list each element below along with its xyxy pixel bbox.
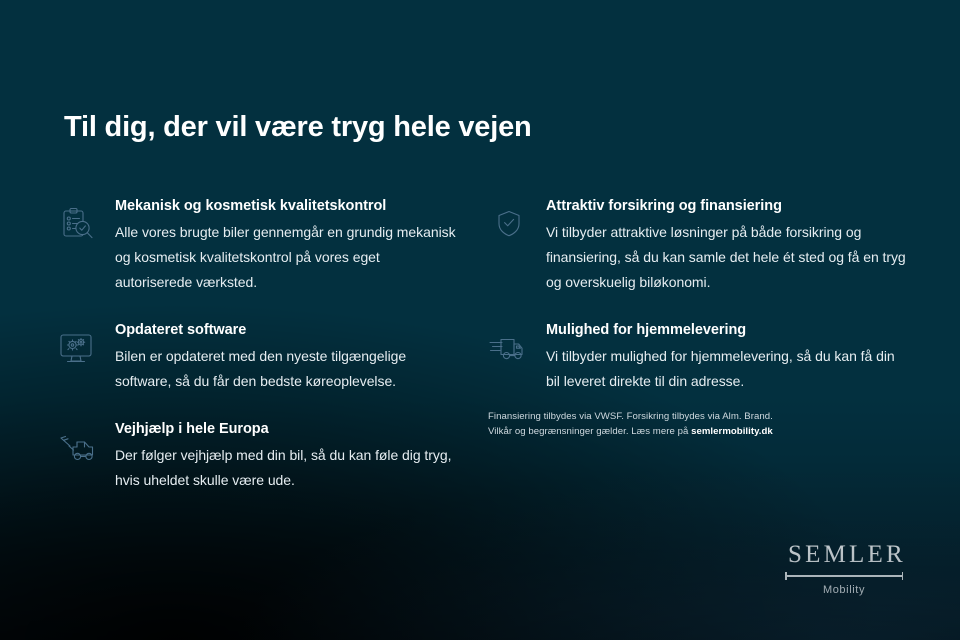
fineprint-line-2: Vilkår og begrænsninger gælder. Læs mere… bbox=[488, 424, 838, 439]
clipboard-magnifier-icon bbox=[57, 206, 99, 244]
fineprint-website-link[interactable]: semlermobility.dk bbox=[691, 426, 773, 437]
shield-check-icon bbox=[488, 206, 530, 244]
feature-text: Bilen er opdateret med den nyeste tilgæn… bbox=[115, 344, 457, 394]
feature-text: Der følger vejhjælp med din bil, så du k… bbox=[115, 443, 457, 493]
monitor-gears-icon bbox=[57, 330, 99, 368]
feature-home-delivery: Mulighed for hjemmelevering Vi tilbyder … bbox=[488, 320, 908, 394]
page-title: Til dig, der vil være tryg hele vejen bbox=[64, 111, 532, 144]
feature-title: Attraktiv forsikring og finansiering bbox=[546, 196, 908, 217]
feature-text: Vi tilbyder attraktive løsninger på både… bbox=[546, 220, 908, 295]
slide-canvas: Til dig, der vil være tryg hele vejen bbox=[0, 0, 960, 640]
features-column-left: Mekanisk og kosmetisk kvalitetskontrol A… bbox=[57, 196, 457, 515]
features-column-right: Attraktiv forsikring og finansiering Vi … bbox=[488, 196, 908, 416]
feature-body: Vejhjælp i hele Europa Der følger vejhjæ… bbox=[115, 419, 457, 493]
feature-title: Mekanisk og kosmetisk kvalitetskontrol bbox=[115, 196, 457, 217]
feature-title: Opdateret software bbox=[115, 320, 457, 341]
feature-insurance-financing: Attraktiv forsikring og finansiering Vi … bbox=[488, 196, 908, 295]
fineprint-line-1: Finansiering tilbydes via VWSF. Forsikri… bbox=[488, 409, 838, 424]
tow-truck-icon bbox=[57, 429, 99, 467]
feature-quality-control: Mekanisk og kosmetisk kvalitetskontrol A… bbox=[57, 196, 457, 295]
feature-text: Alle vores brugte biler gennemgår en gru… bbox=[115, 220, 457, 295]
feature-body: Mulighed for hjemmelevering Vi tilbyder … bbox=[546, 320, 908, 394]
fineprint-disclaimer: Finansiering tilbydes via VWSF. Forsikri… bbox=[488, 409, 838, 439]
delivery-van-icon bbox=[488, 330, 530, 368]
feature-roadside-assistance: Vejhjælp i hele Europa Der følger vejhjæ… bbox=[57, 419, 457, 493]
fineprint-line-2-prefix: Vilkår og begrænsninger gælder. Læs mere… bbox=[488, 426, 691, 437]
feature-updated-software: Opdateret software Bilen er opdateret me… bbox=[57, 320, 457, 394]
feature-title: Vejhjælp i hele Europa bbox=[115, 419, 457, 440]
feature-title: Mulighed for hjemmelevering bbox=[546, 320, 908, 341]
feature-body: Mekanisk og kosmetisk kvalitetskontrol A… bbox=[115, 196, 457, 295]
logo-subtitle: Mobility bbox=[785, 582, 903, 598]
logo-divider-rule bbox=[785, 572, 903, 580]
logo-rule-bar bbox=[785, 575, 903, 577]
feature-text: Vi tilbyder mulighed for hjemmelevering,… bbox=[546, 344, 908, 394]
feature-body: Opdateret software Bilen er opdateret me… bbox=[115, 320, 457, 394]
feature-body: Attraktiv forsikring og finansiering Vi … bbox=[546, 196, 908, 295]
logo-wordmark: SEMLER bbox=[785, 541, 903, 569]
semler-mobility-logo: SEMLER Mobility bbox=[785, 541, 903, 598]
logo-rule-cap-right bbox=[902, 572, 904, 580]
